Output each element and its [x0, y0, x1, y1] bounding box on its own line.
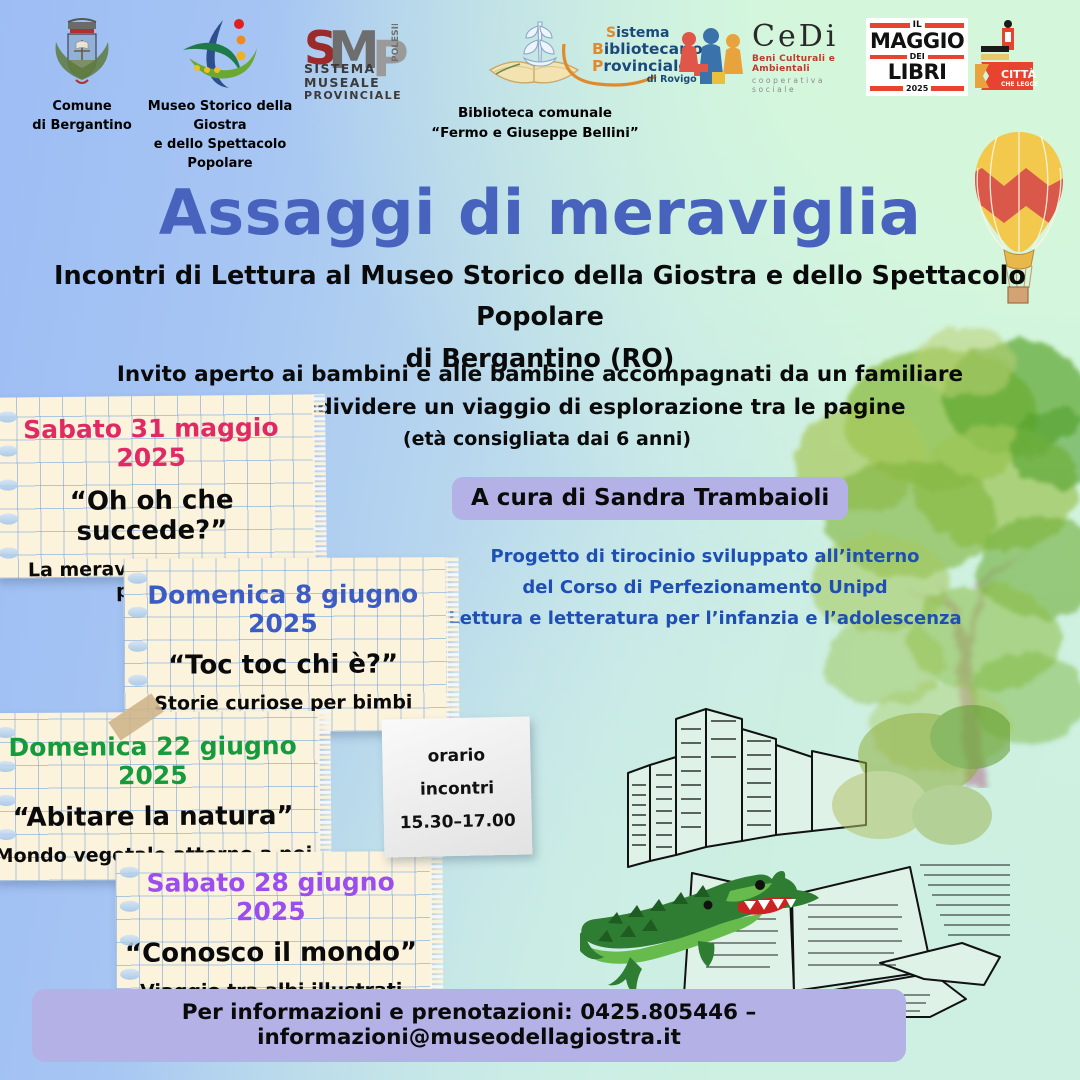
- logo-caption-line: Beni Culturali e Ambientali: [752, 54, 866, 74]
- event-date: Domenica 22 giugno 2025: [0, 731, 314, 791]
- logo-caption-line: MAGGIO: [870, 30, 964, 52]
- event-title: “Toc toc chi è?”: [124, 649, 442, 681]
- logo-caption-line: “Fermo e Giuseppe Bellini”: [390, 124, 680, 144]
- logo-caption-line: Comune: [22, 98, 142, 117]
- logo-caption-line: 2025: [906, 84, 928, 93]
- contact-footer: Per informazioni e prenotazioni: 0425.80…: [32, 989, 906, 1062]
- logo-caption-line: PROVINCIALE: [304, 90, 402, 102]
- event-title: “Oh oh che succede?”: [0, 484, 310, 547]
- swirl-logo-icon: [177, 14, 263, 92]
- logo-wordmark: CeDi: [752, 22, 866, 52]
- logo-museo-storico-della-giostra: Museo Storico della Giostra e dello Spet…: [130, 14, 310, 173]
- logo-caption-line: cooperativa sociale: [752, 76, 866, 94]
- logo-caption-line: Biblioteca comunale: [390, 104, 680, 124]
- family-figures-icon: [676, 28, 746, 86]
- logo-caption-line: LIBRI: [870, 61, 964, 83]
- logo-il-maggio-dei-libri: IL MAGGIO DEI LIBRI 2025: [866, 18, 952, 96]
- project-line-1: Progetto di tirocinio sviluppato all’int…: [440, 542, 970, 573]
- page-title: Assaggi di meraviglia: [0, 176, 1080, 249]
- project-credit-text: Progetto di tirocinio sviluppato all’int…: [440, 542, 970, 635]
- event-title: “Conosco il mondo”: [116, 937, 426, 969]
- logo-caption-line: CITTÀ: [1001, 68, 1037, 81]
- citta-che-legge-book-icon: CITTÀ CHE LEGGE: [973, 18, 1039, 94]
- logo-citta-che-legge: CITTÀ CHE LEGGE: [966, 18, 1046, 98]
- invite-line-1: Invito aperto ai bambini e alle bambine …: [117, 362, 963, 387]
- schedule-line-3: 15.30–17.00: [383, 805, 532, 841]
- curator-badge: A cura di Sandra Trambaioli: [452, 477, 848, 520]
- logo-cedi-cooperativa: CeDi Beni Culturali e Ambientali coopera…: [676, 24, 866, 90]
- project-line-3: Lettura e letteratura per l’infanzia e l…: [440, 604, 970, 635]
- paper-holes: [0, 411, 21, 566]
- logo-caption-line: e dello Spettacolo Popolare: [130, 136, 310, 174]
- event-date: Sabato 31 maggio 2025: [0, 412, 309, 473]
- logo-caption-line: di Bergantino: [22, 117, 142, 136]
- event-date: Domenica 8 giugno 2025: [124, 579, 442, 639]
- schedule-sticky-note: orario incontri 15.30–17.00: [382, 716, 533, 857]
- logo-comune-di-bergantino: Comune di Bergantino: [22, 14, 142, 136]
- poster-canvas: Comune di Bergantino Museo Storico della…: [0, 0, 1080, 1080]
- partner-logo-bar: Comune di Bergantino Museo Storico della…: [0, 0, 1080, 150]
- event-card: Sabato 31 maggio 2025 “Oh oh che succede…: [0, 394, 316, 578]
- logo-caption-line: CHE LEGGE: [1001, 81, 1038, 88]
- logo-caption-line: Museo Storico della Giostra: [130, 98, 310, 136]
- schedule-line-2: incontri: [383, 772, 532, 808]
- paper-holes: [0, 727, 19, 869]
- open-book-and-crocodile-illustration: [580, 695, 1010, 1025]
- coat-of-arms-icon: [46, 14, 118, 92]
- event-date: Sabato 28 giugno 2025: [116, 867, 426, 927]
- logo-caption-line: SISTEMA: [304, 62, 402, 76]
- event-card: Domenica 8 giugno 2025 “Toc toc chi è?” …: [124, 557, 449, 733]
- subtitle-line-1: Incontri di Lettura al Museo Storico del…: [30, 256, 1050, 339]
- logo-caption-line: MUSEALE: [304, 76, 402, 90]
- event-title: “Abitare la natura”: [0, 801, 314, 833]
- project-line-2: del Corso di Perfezionamento Unipd: [440, 573, 970, 604]
- schedule-line-1: orario: [382, 738, 531, 774]
